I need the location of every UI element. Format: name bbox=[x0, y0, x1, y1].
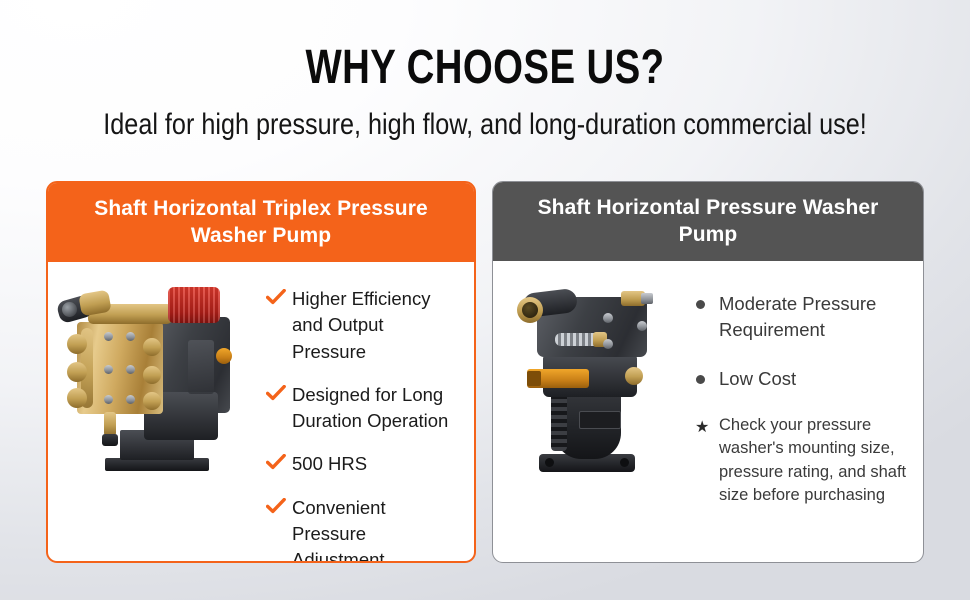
dot-icon bbox=[693, 291, 719, 314]
card-right-feature-list: Moderate Pressure Requirement Low Cost ★… bbox=[689, 261, 923, 562]
infographic-canvas: WHY CHOOSE US? Ideal for high pressure, … bbox=[0, 0, 970, 600]
list-item: 500 HRS bbox=[266, 451, 460, 477]
check-icon bbox=[266, 286, 292, 307]
list-item: Designed for Long Duration Operation bbox=[266, 382, 460, 435]
check-icon bbox=[266, 495, 292, 516]
comparison-cards: Shaft Horizontal Triplex Pressure Washer… bbox=[46, 181, 924, 563]
star-icon: ★ bbox=[693, 414, 719, 437]
card-triplex-pump: Shaft Horizontal Triplex Pressure Washer… bbox=[46, 181, 476, 563]
card-standard-pump: Shaft Horizontal Pressure Washer Pump bbox=[492, 181, 924, 563]
card-left-feature-list: Higher Efficiency and Output Pressure De… bbox=[260, 262, 474, 563]
list-item: ★ Check your pressure washer's mounting … bbox=[693, 414, 907, 508]
card-left-body: Higher Efficiency and Output Pressure De… bbox=[48, 262, 474, 563]
dot-icon bbox=[693, 366, 719, 389]
card-right-header: Shaft Horizontal Pressure Washer Pump bbox=[493, 182, 923, 261]
hero-section: WHY CHOOSE US? Ideal for high pressure, … bbox=[0, 0, 970, 141]
standard-pressure-washer-pump-image bbox=[493, 261, 689, 562]
feature-text: Convenient Pressure Adjustment bbox=[292, 495, 460, 563]
feature-text: Higher Efficiency and Output Pressure bbox=[292, 286, 460, 365]
page-title: WHY CHOOSE US? bbox=[97, 0, 873, 92]
feature-note-text: Check your pressure washer's mounting si… bbox=[719, 414, 907, 508]
check-icon bbox=[266, 382, 292, 403]
list-item: Low Cost bbox=[693, 366, 907, 392]
list-item: Moderate Pressure Requirement bbox=[693, 291, 907, 344]
feature-text: Low Cost bbox=[719, 366, 796, 392]
check-icon bbox=[266, 451, 292, 472]
card-right-body: Moderate Pressure Requirement Low Cost ★… bbox=[493, 261, 923, 562]
page-subtitle: Ideal for high pressure, high flow, and … bbox=[78, 92, 893, 141]
list-item: Higher Efficiency and Output Pressure bbox=[266, 286, 460, 365]
list-item: Convenient Pressure Adjustment bbox=[266, 495, 460, 563]
card-left-header: Shaft Horizontal Triplex Pressure Washer… bbox=[48, 183, 474, 262]
feature-text: Designed for Long Duration Operation bbox=[292, 382, 460, 435]
triplex-pressure-washer-pump-image bbox=[48, 262, 260, 563]
feature-text: 500 HRS bbox=[292, 451, 367, 477]
feature-text: Moderate Pressure Requirement bbox=[719, 291, 907, 344]
